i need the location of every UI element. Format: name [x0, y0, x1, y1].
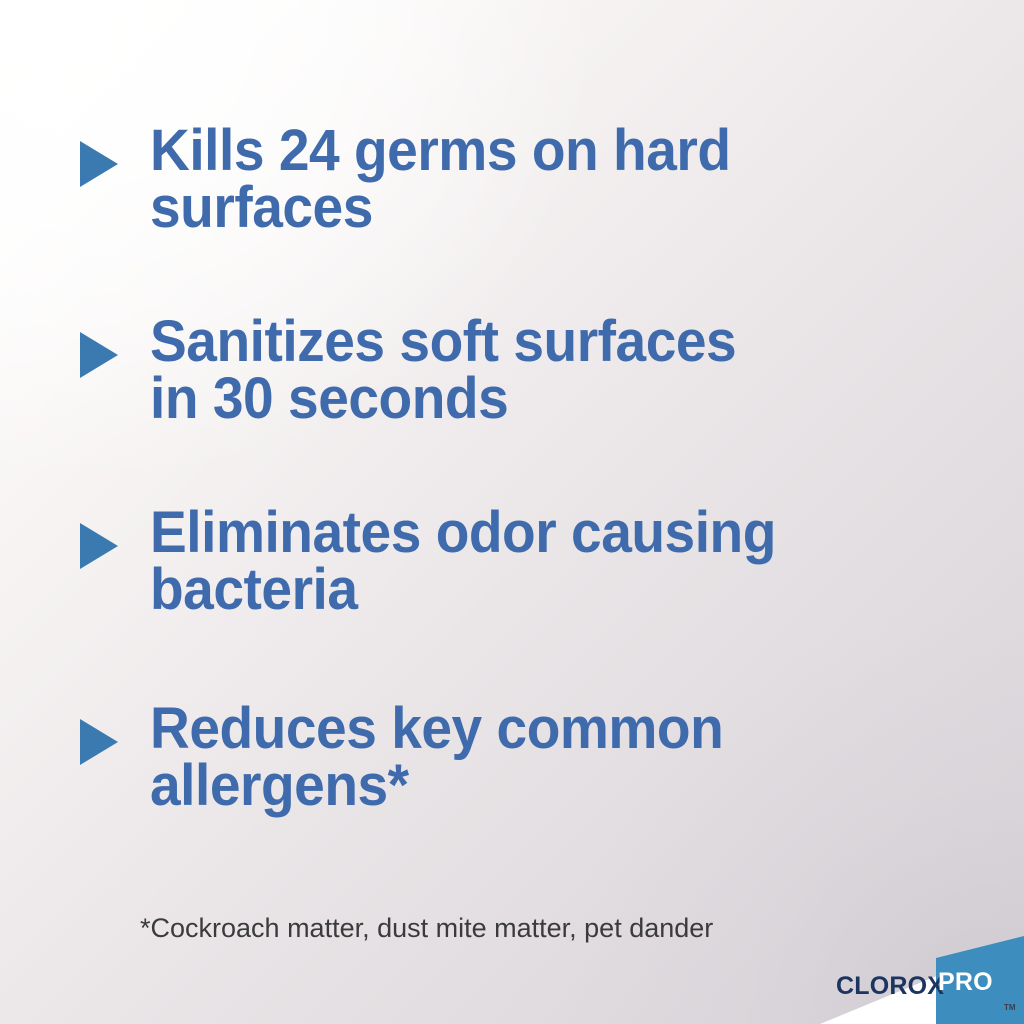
benefit-text: Sanitizes soft surfaces in 30 seconds — [150, 314, 937, 428]
logo-wordmark-clorox: CLOROX — [836, 972, 944, 1000]
triangle-right-icon — [78, 139, 120, 189]
footnote-text: *Cockroach matter, dust mite matter, pet… — [140, 913, 713, 944]
benefits-graphic-canvas: Kills 24 germs on hard surfaces Sanitize… — [0, 0, 1024, 1024]
cloroxpro-logo: CLOROX PRO TM — [784, 928, 1024, 1024]
triangle-right-icon — [78, 717, 120, 767]
list-item: Sanitizes soft surfaces in 30 seconds — [78, 314, 978, 428]
logo-wordmark-pro: PRO — [938, 968, 993, 996]
benefit-text: Reduces key common allergens* — [150, 701, 937, 815]
triangle-right-icon — [78, 330, 120, 380]
triangle-right-icon — [78, 521, 120, 571]
logo-trademark: TM — [1004, 1003, 1016, 1012]
list-item: Eliminates odor causing bacteria — [78, 505, 978, 619]
list-item: Reduces key common allergens* — [78, 701, 978, 815]
list-item: Kills 24 germs on hard surfaces — [78, 123, 978, 237]
benefit-text: Kills 24 germs on hard surfaces — [150, 123, 937, 237]
benefit-text: Eliminates odor causing bacteria — [150, 505, 937, 619]
